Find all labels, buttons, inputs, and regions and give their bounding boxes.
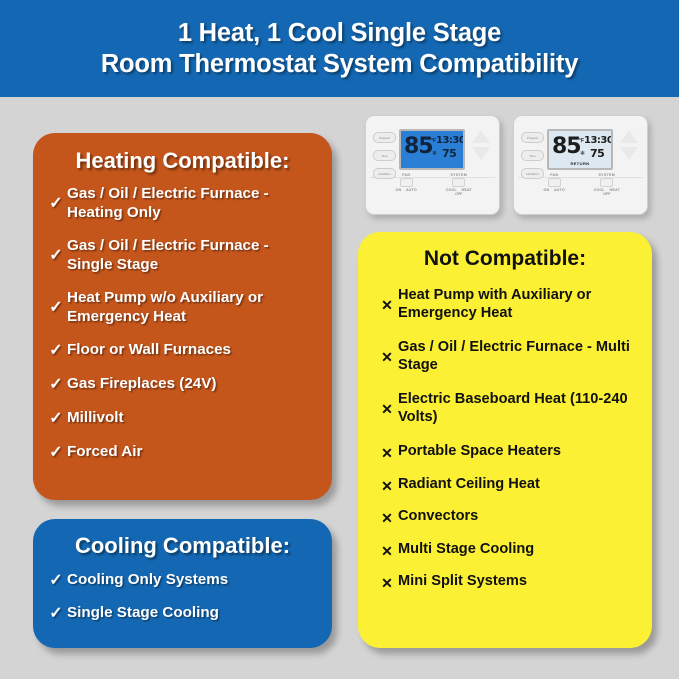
thermostat-2-fan-switch: FAN ON AUTO	[530, 173, 578, 196]
heating-compatible-list: ✓Gas / Oil / Electric Furnace - Heating …	[33, 185, 332, 465]
not-compatible-list-item-label: Mini Split Systems	[398, 573, 638, 591]
heating-compatible-title: Heating Compatible:	[33, 148, 332, 174]
thermostat-2-mode-label: RETURN	[549, 161, 611, 166]
fan-switch-on-label: ON	[544, 188, 550, 192]
heating-list-item-label: Floor or Wall Furnaces	[67, 341, 314, 360]
not-compatible-list-item-label: Multi Stage Cooling	[398, 541, 638, 559]
cross-icon: ✕	[376, 476, 398, 496]
snowflake-icon: ❄	[580, 150, 585, 157]
heating-list-item-label: Gas / Oil / Electric Furnace - Single St…	[67, 237, 314, 274]
thermostat-2-button-group: Program Time Hold/Run	[521, 132, 544, 179]
thermostat-1-program-button: Program	[373, 132, 396, 143]
not-compatible-list: ✕Heat Pump with Auxiliary or Emergency H…	[358, 287, 652, 593]
thermostat-2-time-button: Time	[521, 150, 544, 161]
not-compatible-list-item: ✕Portable Space Heaters	[358, 443, 652, 463]
not-compatible-list-item-label: Radiant Ceiling Heat	[398, 476, 638, 494]
thermostat-1-switch-row: FAN ON AUTO SYSTEM COOL HEAT OFF	[366, 173, 499, 196]
heating-list-item: ✓Heat Pump w/o Auxiliary or Emergency He…	[33, 289, 332, 326]
not-compatible-card: Not Compatible: ✕Heat Pump with Auxiliar…	[358, 232, 652, 648]
heating-list-item: ✓Gas Fireplaces (24V)	[33, 375, 332, 397]
page-header: 1 Heat, 1 Cool Single Stage Room Thermos…	[0, 0, 679, 97]
heating-list-item-label: Heat Pump w/o Auxiliary or Emergency Hea…	[67, 289, 314, 326]
fan-switch-slider	[400, 178, 413, 187]
arrow-up-icon	[472, 130, 490, 143]
check-icon: ✓	[45, 409, 67, 429]
check-icon: ✓	[45, 289, 67, 318]
system-switch-title: SYSTEM	[435, 173, 483, 177]
check-icon: ✓	[45, 341, 67, 361]
cross-icon: ✕	[376, 443, 398, 463]
thermostat-2-clock: 13:30	[584, 136, 613, 146]
check-icon: ✓	[45, 443, 67, 463]
system-switch-title: SYSTEM	[583, 173, 631, 177]
cooling-compatible-list: ✓Cooling Only Systems✓Single Stage Cooli…	[33, 571, 332, 623]
fan-switch-title: FAN	[530, 173, 578, 177]
fan-switch-options: ON AUTO	[382, 188, 430, 192]
cooling-list-item: ✓Single Stage Cooling	[33, 604, 332, 624]
thermostat-2-switch-row: FAN ON AUTO SYSTEM COOL HEAT OFF	[514, 173, 647, 196]
heating-list-item-label: Forced Air	[67, 443, 314, 462]
snowflake-icon: ❄	[432, 150, 437, 157]
cooling-compatible-card: Cooling Compatible: ✓Cooling Only System…	[33, 519, 332, 648]
not-compatible-list-item-label: Electric Baseboard Heat (110-240 Volts)	[398, 391, 638, 426]
fan-switch-auto-label: AUTO	[406, 188, 417, 192]
cross-icon: ✕	[376, 391, 398, 419]
not-compatible-list-item: ✕Mini Split Systems	[358, 573, 652, 593]
cross-icon: ✕	[376, 339, 398, 367]
heating-list-item: ✓Floor or Wall Furnaces	[33, 341, 332, 363]
not-compatible-list-item-label: Gas / Oil / Electric Furnace - Multi Sta…	[398, 339, 638, 374]
thermostat-1-clock: 13:30	[436, 136, 465, 146]
system-switch-heat-label: HEAT	[610, 188, 620, 192]
fan-switch-options: ON AUTO	[530, 188, 578, 192]
infographic-page: 1 Heat, 1 Cool Single Stage Room Thermos…	[0, 0, 679, 679]
thermostat-1-set-temperature: 75	[442, 148, 456, 159]
thermostat-1-system-switch: SYSTEM COOL HEAT OFF	[435, 173, 483, 196]
thermostat-2-system-switch: SYSTEM COOL HEAT OFF	[583, 173, 631, 196]
check-icon: ✓	[45, 237, 67, 266]
arrow-down-icon	[620, 147, 638, 160]
cross-icon: ✕	[376, 508, 398, 528]
heating-list-item: ✓Gas / Oil / Electric Furnace - Single S…	[33, 237, 332, 274]
fan-switch-on-label: ON	[396, 188, 402, 192]
not-compatible-list-item: ✕Electric Baseboard Heat (110-240 Volts)	[358, 391, 652, 426]
heating-list-item-label: Gas Fireplaces (24V)	[67, 375, 314, 394]
thermostat-1-fan-switch: FAN ON AUTO	[382, 173, 430, 196]
heating-compatible-card: Heating Compatible: ✓Gas / Oil / Electri…	[33, 133, 332, 500]
thermostat-2-program-button: Program	[521, 132, 544, 143]
thermostat-1-time-button: Time	[373, 150, 396, 161]
not-compatible-list-item-label: Portable Space Heaters	[398, 443, 638, 461]
not-compatible-list-item: ✕Radiant Ceiling Heat	[358, 476, 652, 496]
not-compatible-list-item: ✕Heat Pump with Auxiliary or Emergency H…	[358, 287, 652, 322]
heating-list-item: ✓Gas / Oil / Electric Furnace - Heating …	[33, 185, 332, 222]
check-icon: ✓	[45, 604, 67, 624]
thermostat-1-lcd-screen: 85 °F 13:30 ❄ 75	[399, 129, 465, 170]
system-switch-heat-label: HEAT	[462, 188, 472, 192]
not-compatible-list-item-label: Convectors	[398, 508, 638, 526]
check-icon: ✓	[45, 375, 67, 395]
cooling-list-item: ✓Cooling Only Systems	[33, 571, 332, 591]
thermostat-2-set-temperature: 75	[590, 148, 604, 159]
not-compatible-title: Not Compatible:	[358, 247, 652, 271]
cross-icon: ✕	[376, 287, 398, 315]
cooling-list-item-label: Single Stage Cooling	[67, 604, 314, 623]
heating-list-item-label: Gas / Oil / Electric Furnace - Heating O…	[67, 185, 314, 222]
heating-list-item-label: Millivolt	[67, 409, 314, 428]
fan-switch-slider	[548, 178, 561, 187]
fan-switch-auto-label: AUTO	[554, 188, 565, 192]
not-compatible-list-item: ✕Multi Stage Cooling	[358, 541, 652, 561]
not-compatible-list-item: ✕Gas / Oil / Electric Furnace - Multi St…	[358, 339, 652, 374]
heating-list-item: ✓Millivolt	[33, 409, 332, 431]
thermostat-image-white-display: Program Time Hold/Run 85 °F 13:30 ❄ 75 R…	[513, 115, 648, 215]
header-title-line-2: Room Thermostat System Compatibility	[101, 49, 578, 80]
arrow-up-icon	[620, 130, 638, 143]
system-switch-off-label: OFF	[583, 192, 631, 196]
header-title-block: 1 Heat, 1 Cool Single Stage Room Thermos…	[0, 0, 679, 97]
system-switch-slider	[600, 178, 613, 187]
check-icon: ✓	[45, 185, 67, 214]
system-switch-slider	[452, 178, 465, 187]
system-switch-off-label: OFF	[435, 192, 483, 196]
thermostat-1-current-temperature: 85	[404, 136, 433, 158]
thermostat-1-arrow-buttons	[472, 130, 490, 160]
heating-list-item: ✓Forced Air	[33, 443, 332, 465]
cross-icon: ✕	[376, 541, 398, 561]
cross-icon: ✕	[376, 573, 398, 593]
check-icon: ✓	[45, 571, 67, 591]
not-compatible-list-item-label: Heat Pump with Auxiliary or Emergency He…	[398, 287, 638, 322]
thermostat-2-lcd-screen: 85 °F 13:30 ❄ 75 RETURN	[547, 129, 613, 170]
not-compatible-list-item: ✕Convectors	[358, 508, 652, 528]
arrow-down-icon	[472, 147, 490, 160]
fan-switch-title: FAN	[382, 173, 430, 177]
thermostat-2-current-temperature: 85	[552, 136, 581, 158]
thermostat-image-blue-display: Program Time Hold/Run 85 °F 13:30 ❄ 75 F…	[365, 115, 500, 215]
cooling-compatible-title: Cooling Compatible:	[33, 533, 332, 559]
thermostat-1-button-group: Program Time Hold/Run	[373, 132, 396, 179]
header-title-line-1: 1 Heat, 1 Cool Single Stage	[178, 18, 501, 49]
cooling-list-item-label: Cooling Only Systems	[67, 571, 314, 590]
thermostat-2-arrow-buttons	[620, 130, 638, 160]
